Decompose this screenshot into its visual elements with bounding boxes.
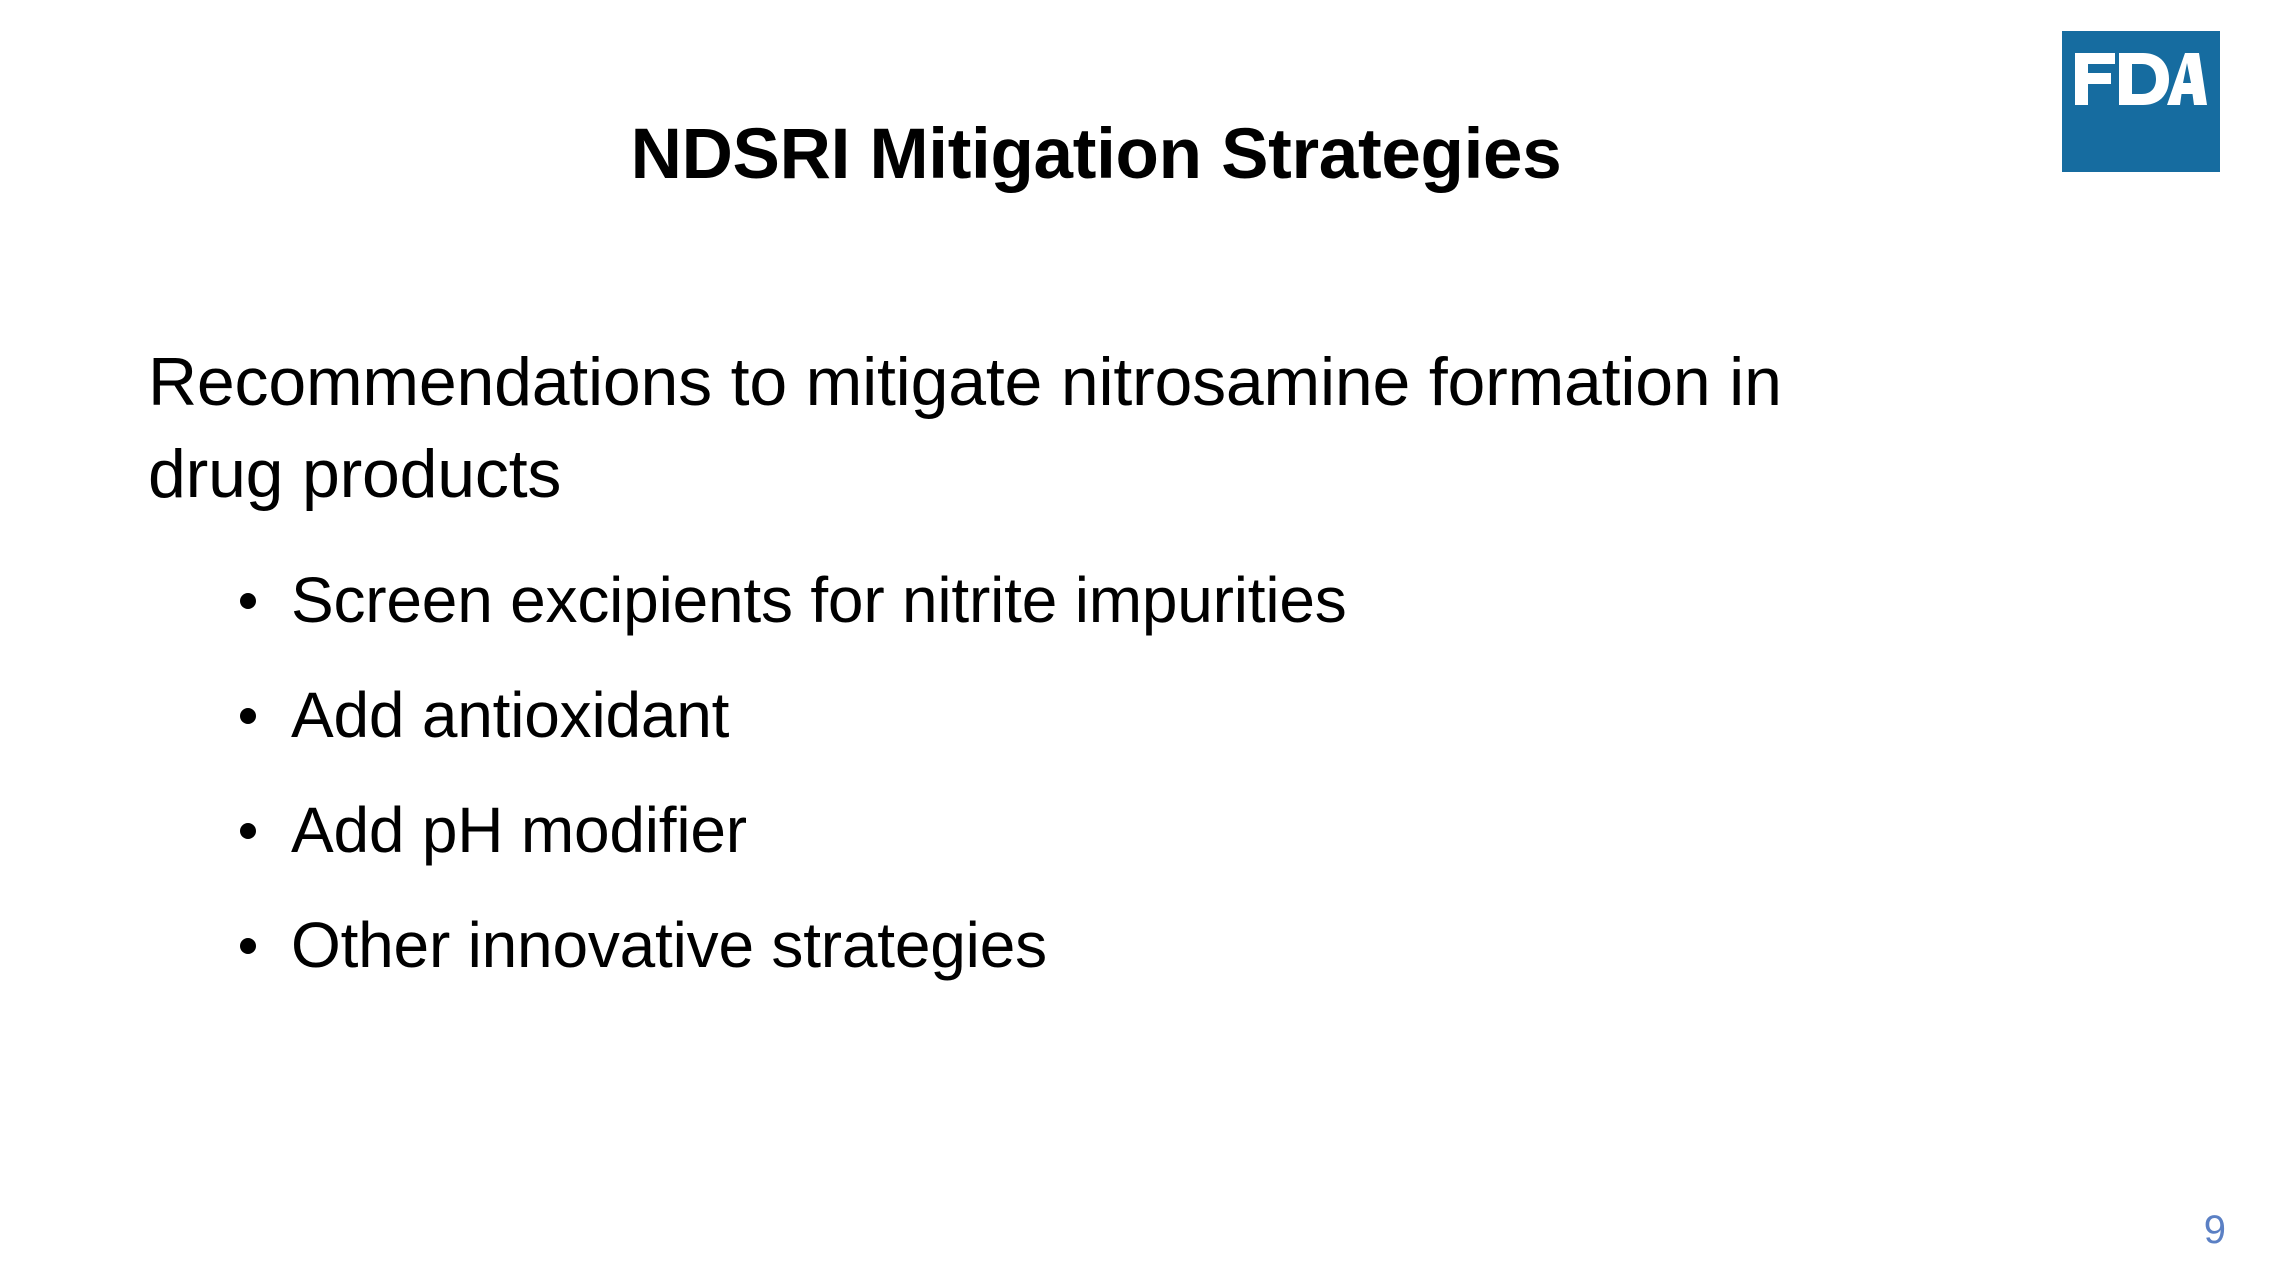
bullet-dot-icon — [240, 823, 256, 839]
list-item-label: Other innovative strategies — [291, 913, 1047, 977]
list-item: Screen excipients for nitrite impurities — [148, 543, 1928, 658]
page-number: 9 — [2204, 1210, 2226, 1250]
slide-canvas: NDSRI Mitigation Strategies Recommendati… — [0, 0, 2270, 1264]
list-item-label: Add antioxidant — [291, 683, 729, 747]
fda-wordmark-icon — [2075, 53, 2207, 105]
list-item: Add antioxidant — [148, 658, 1928, 773]
lead-paragraph: Recommendations to mitigate nitrosamine … — [148, 336, 1928, 521]
mitigation-bullet-list: Screen excipients for nitrite impurities… — [148, 543, 1928, 1003]
list-item: Other innovative strategies — [148, 888, 1928, 1003]
list-item-label: Add pH modifier — [291, 798, 747, 862]
bullet-dot-icon — [240, 938, 256, 954]
list-item: Add pH modifier — [148, 773, 1928, 888]
bullet-dot-icon — [240, 593, 256, 609]
bullet-dot-icon — [240, 708, 256, 724]
page-title: NDSRI Mitigation Strategies — [0, 114, 2192, 196]
list-item-label: Screen excipients for nitrite impurities — [291, 568, 1347, 632]
slide-body: Recommendations to mitigate nitrosamine … — [148, 336, 1928, 1003]
